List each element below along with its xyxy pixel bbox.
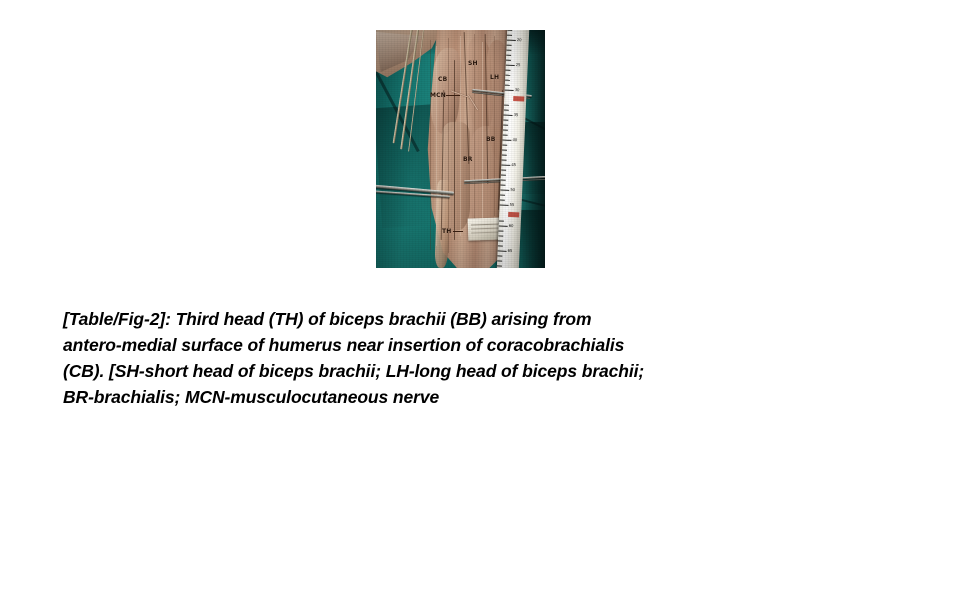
muscle-striation [494, 36, 495, 216]
muscle-striation [436, 46, 437, 246]
caption-line-2: antero-medial surface of humerus near in… [63, 332, 863, 358]
label-mcn: MCN [430, 92, 446, 99]
intermuscular-septum-4 [454, 60, 455, 240]
label-th-leader [453, 231, 463, 232]
label-sh: SH [468, 60, 478, 67]
figure-caption: [Table/Fig-2]: Third head (TH) of biceps… [63, 306, 863, 410]
muscle-striation [448, 38, 449, 253]
label-mcn-leader [446, 95, 460, 96]
label-bb: BB [486, 136, 496, 143]
label-cb: CB [438, 76, 447, 83]
figure-image: 20 25 30 35 40 45 50 [376, 30, 545, 268]
label-lh: LH [490, 74, 499, 81]
label-br: BR [463, 156, 473, 163]
muscle-striation [460, 36, 461, 236]
muscle-striation [430, 40, 431, 250]
caption-line-4: BR-brachialis; MCN-musculocutaneous nerv… [63, 384, 863, 410]
muscle-striation [482, 42, 483, 232]
label-th: TH [442, 228, 452, 235]
caption-line-1: [Table/Fig-2]: Third head (TH) of biceps… [63, 306, 863, 332]
caption-line-3: (CB). [SH-short head of biceps brachii; … [63, 358, 863, 384]
